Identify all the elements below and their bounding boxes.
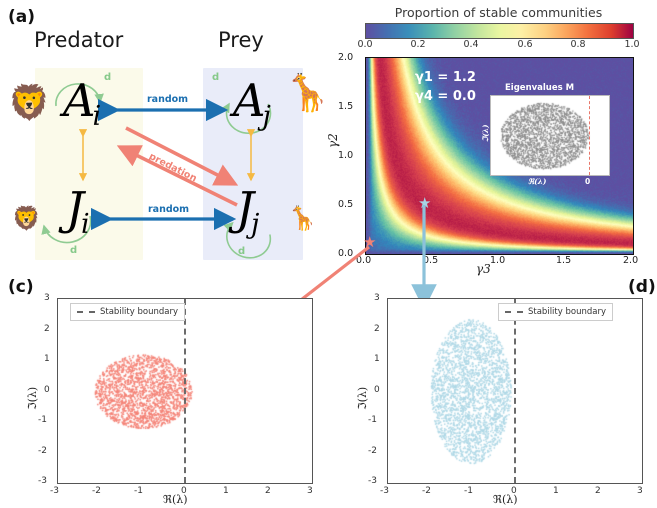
node-sub-Jj: j xyxy=(251,209,259,240)
legend-label-c: Stability boundary xyxy=(100,307,178,317)
colorbar-tick-5: 1.0 xyxy=(612,39,652,50)
heatmap-ytick-1: 0.5 xyxy=(338,199,353,210)
self-loop-label-Aj: d xyxy=(212,72,219,83)
c-ytick-m2: -2 xyxy=(38,446,47,456)
heatmap-ytick-3: 1.5 xyxy=(338,101,353,112)
panel-c-legend: Stability boundary xyxy=(70,303,185,321)
panel-c-xlabel: ℜ(λ) xyxy=(163,493,188,506)
colorbar-tick-0: 0.0 xyxy=(345,39,385,50)
c-xtick-m2: -2 xyxy=(92,486,101,496)
d-xtick-3: 3 xyxy=(637,486,643,496)
colorbar xyxy=(365,23,634,39)
inset-zero-tick: 0 xyxy=(585,177,590,186)
panel-d-plot xyxy=(387,298,643,484)
heatmap-xtick-0: 0.0 xyxy=(356,255,371,266)
d-ytick-0: 0 xyxy=(374,385,380,395)
node-label-Ji: Ji xyxy=(66,186,93,231)
heatmap-ylabel: γ2 xyxy=(326,133,340,148)
heatmap-ytick-0: 0.0 xyxy=(338,248,353,259)
d-ytick-1: 1 xyxy=(374,354,380,364)
c-xtick-3: 3 xyxy=(307,486,313,496)
self-loop-label-Jj: d xyxy=(238,246,245,257)
d-xtick-m2: -2 xyxy=(422,486,431,496)
stability-boundary-c xyxy=(184,299,186,483)
c-ytick-m1: -1 xyxy=(38,415,47,425)
inset-canvas xyxy=(491,96,609,175)
panel-d-letter: (d) xyxy=(628,277,656,297)
lion-cub-icon: 🦁 xyxy=(12,208,41,231)
c-ytick-0: 0 xyxy=(44,385,50,395)
panel-a: (a) Predator Prey xyxy=(0,0,330,268)
panel-d-legend: Stability boundary xyxy=(498,303,613,321)
random-label-bottom: random xyxy=(148,204,189,215)
gamma1-annotation: γ1 = 1.2 xyxy=(415,70,476,85)
d-ytick-m3: -3 xyxy=(368,476,377,486)
heatmap-xtick-2: 1.0 xyxy=(490,255,505,266)
c-ytick-1: 1 xyxy=(44,354,50,364)
colorbar-tick-2: 0.4 xyxy=(451,39,491,50)
colorbar-title: Proportion of stable communities xyxy=(365,5,632,20)
node-base-Aj: A xyxy=(233,74,266,127)
heatmap-xlabel: γ3 xyxy=(476,262,491,276)
d-xtick-m3: -3 xyxy=(380,486,389,496)
node-label-Jj: Jj xyxy=(236,186,262,231)
lion-adult-icon: 🦁 xyxy=(8,86,50,120)
heatmap-xtick-1: 0.5 xyxy=(423,255,438,266)
heatmap-xtick-3: 1.5 xyxy=(556,255,571,266)
heatmap-ytick-2: 1.0 xyxy=(338,150,353,161)
inset-xlabel: ℜ(λ) xyxy=(528,177,546,186)
c-xtick-m3: -3 xyxy=(50,486,59,496)
panel-c-ylabel: ℑ(λ) xyxy=(26,387,39,410)
d-xtick-1: 1 xyxy=(553,486,559,496)
c-ytick-3: 3 xyxy=(44,293,50,303)
random-label-top: random xyxy=(147,94,188,105)
node-label-Aj: Aj xyxy=(233,78,274,123)
inset-zero-line xyxy=(589,96,590,175)
node-sub-Ji: i xyxy=(81,209,90,240)
gamma4-annotation: γ4 = 0.0 xyxy=(415,89,476,104)
c-xtick-1: 1 xyxy=(223,486,229,496)
c-xtick-2: 2 xyxy=(265,486,271,496)
heatmap-xtick-4: 2.0 xyxy=(623,255,638,266)
colorbar-tick-1: 0.2 xyxy=(398,39,438,50)
self-loop-label-Ai: d xyxy=(104,72,111,83)
self-loop-label-Ji: d xyxy=(70,245,77,256)
inset-ylabel: ℑ(λ) xyxy=(481,124,490,142)
panel-c-letter: (c) xyxy=(8,277,34,297)
inset-eigenvalue-plot xyxy=(490,95,610,176)
panel-a-edges xyxy=(0,0,330,268)
inset-title: Eigenvalues M xyxy=(505,83,574,93)
d-ytick-m1: -1 xyxy=(368,415,377,425)
legend-dash-icon-d xyxy=(505,311,523,313)
d-xtick-m1: -1 xyxy=(464,486,473,496)
stability-boundary-d xyxy=(514,299,516,483)
panel-d-ylabel: ℑ(λ) xyxy=(356,387,369,410)
c-ytick-2: 2 xyxy=(44,324,50,334)
node-sub-Aj: j xyxy=(263,101,271,132)
marker-star-salmon[interactable]: ★ xyxy=(363,235,376,250)
panel-d-xlabel: ℜ(λ) xyxy=(493,493,518,506)
colorbar-tick-4: 0.8 xyxy=(558,39,598,50)
c-xtick-m1: -1 xyxy=(134,486,143,496)
c-ytick-m3: -3 xyxy=(38,476,47,486)
legend-dash-icon-c xyxy=(77,311,95,313)
d-ytick-3: 3 xyxy=(374,293,380,303)
d-xtick-2: 2 xyxy=(595,486,601,496)
giraffe-adult-icon: 🦒 xyxy=(285,76,330,112)
panel-c-plot xyxy=(57,298,313,484)
node-base-Ai: A xyxy=(63,74,96,127)
giraffe-calf-icon: 🦒 xyxy=(288,208,317,231)
d-ytick-m2: -2 xyxy=(368,446,377,456)
colorbar-tick-3: 0.6 xyxy=(505,39,545,50)
marker-star-blue[interactable]: ★ xyxy=(418,196,431,211)
heatmap-ytick-4: 2.0 xyxy=(338,52,353,63)
node-sub-Ai: i xyxy=(93,101,102,132)
node-label-Ai: Ai xyxy=(63,78,104,123)
d-ytick-2: 2 xyxy=(374,324,380,334)
legend-label-d: Stability boundary xyxy=(528,307,606,317)
